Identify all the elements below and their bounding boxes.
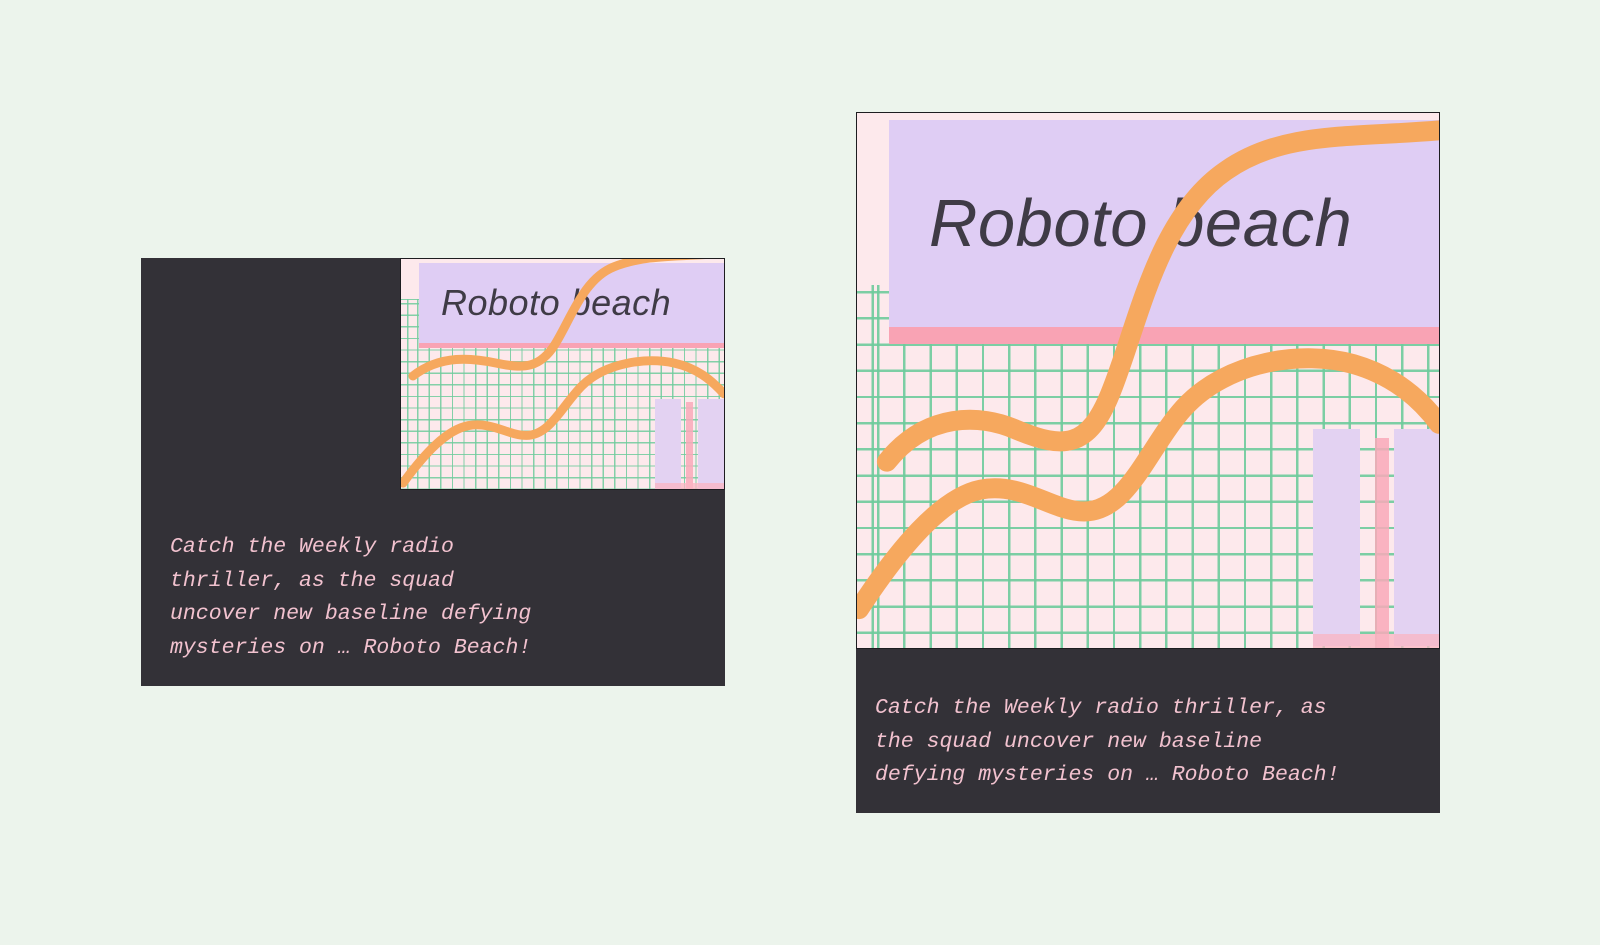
orange-curves — [857, 113, 1439, 648]
caption-small: Catch the Weekly radio thriller, as the … — [170, 531, 710, 665]
poster-comparison-stage: Roboto beach Catch the Weekly radio thri… — [0, 0, 1600, 945]
card-small[interactable]: Roboto beach Catch the Weekly radio thri… — [141, 258, 725, 686]
orange-curves — [401, 259, 724, 489]
artwork-small: Roboto beach — [400, 258, 725, 490]
artwork-large: Roboto beach — [856, 112, 1440, 649]
caption-large: Catch the Weekly radio thriller, as the … — [875, 692, 1431, 793]
card-large[interactable]: Roboto beach Catch the Weekly radio thri… — [856, 112, 1440, 813]
